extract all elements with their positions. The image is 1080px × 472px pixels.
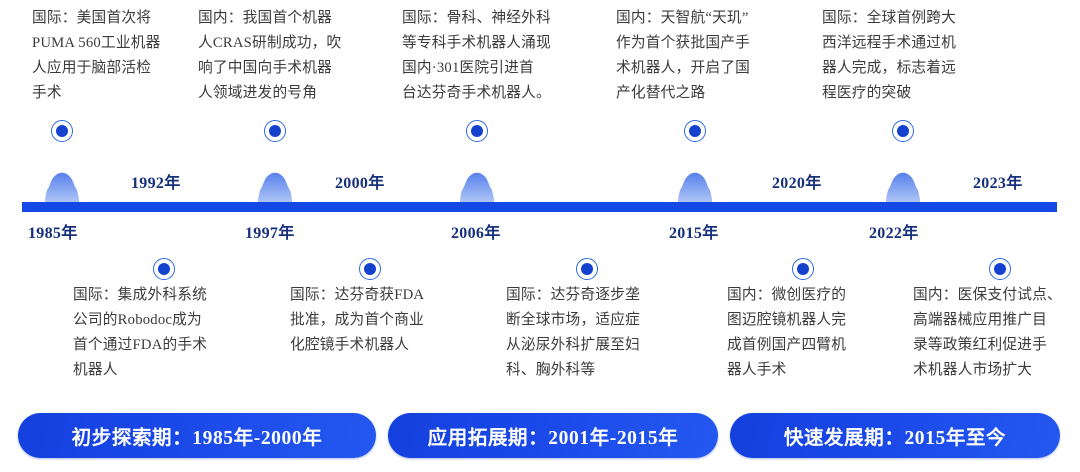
connector-spike-up-4 bbox=[665, 144, 725, 210]
timeline-node-bottom-3[interactable] bbox=[576, 258, 598, 280]
timeline-node-top-1[interactable] bbox=[51, 120, 73, 142]
year-label-below-2: 1997年 bbox=[245, 219, 295, 243]
phase-pill-1[interactable]: 初步探索期：1985年-2000年 bbox=[18, 413, 376, 458]
bottom-event-text-5: 国内：医保支付试点、 高端器械应用推广目 录等政策红利促进手 术机器人市场扩大 bbox=[913, 283, 1080, 383]
year-label-below-3: 2006年 bbox=[451, 219, 501, 243]
connector-spike-up-5 bbox=[873, 144, 933, 210]
phase-pill-3-label: 快速发展期：2015年至今 bbox=[784, 421, 1006, 450]
top-event-text-3: 国际：骨科、神经外科 等专科手术机器人涌现 国内·301医院引进首 台达芬奇手术… bbox=[402, 6, 592, 106]
bottom-event-text-1: 国际：集成外科系统 公司的Robodoc成为 首个通过FDA的手术 机器人 bbox=[73, 283, 251, 383]
connector-spike-up-2 bbox=[245, 144, 305, 210]
timeline-node-top-4[interactable] bbox=[684, 120, 706, 142]
top-event-text-2: 国内：我国首个机器 人CRAS研制成功，吹 响了中国向手术机器 人领域进发的号角 bbox=[198, 6, 366, 106]
top-event-text-5: 国际：全球首例跨大 西洋远程手术通过机 器人完成，标志着远 程医疗的突破 bbox=[822, 6, 998, 106]
timeline-node-bottom-1[interactable] bbox=[153, 258, 175, 280]
bottom-event-text-2: 国际：达芬奇获FDA 批准，成为首个商业 化腔镜手术机器人 bbox=[290, 283, 460, 358]
timeline-node-bottom-2[interactable] bbox=[359, 258, 381, 280]
year-label-above-3: 2020年 bbox=[772, 169, 822, 193]
timeline-node-bottom-5[interactable] bbox=[989, 258, 1011, 280]
timeline-node-top-5[interactable] bbox=[892, 120, 914, 142]
year-label-below-4: 2015年 bbox=[669, 219, 719, 243]
year-label-below-1: 1985年 bbox=[28, 219, 78, 243]
phase-pill-2-label: 应用拓展期：2001年-2015年 bbox=[428, 421, 679, 450]
connector-spike-up-1 bbox=[32, 144, 92, 210]
connector-spike-up-3 bbox=[447, 144, 507, 210]
year-label-above-1: 1992年 bbox=[131, 169, 181, 193]
phase-pill-3[interactable]: 快速发展期：2015年至今 bbox=[730, 413, 1060, 458]
bottom-event-text-3: 国际：达芬奇逐步垄 断全球市场，适应症 从泌尿外科扩展至妇 科、胸外科等 bbox=[506, 283, 678, 383]
phase-pill-1-label: 初步探索期：1985年-2000年 bbox=[72, 421, 323, 450]
timeline-infographic: 国际：美国首次将 PUMA 560工业机器 人应用于脑部活检 手术 国内：我国首… bbox=[0, 0, 1080, 472]
top-event-text-4: 国内：天智航“天玑” 作为首个获批国产手 术机器人，开启了国 产化替代之路 bbox=[616, 6, 788, 106]
timeline-node-top-3[interactable] bbox=[466, 120, 488, 142]
timeline-node-bottom-4[interactable] bbox=[792, 258, 814, 280]
top-event-text-1: 国际：美国首次将 PUMA 560工业机器 人应用于脑部活检 手术 bbox=[32, 6, 192, 106]
year-label-above-2: 2000年 bbox=[335, 169, 385, 193]
timeline-node-top-2[interactable] bbox=[264, 120, 286, 142]
year-label-below-5: 2022年 bbox=[869, 219, 919, 243]
bottom-event-text-4: 国内：微创医疗的 图迈腔镜机器人完 成首例国产四臂机 器人手术 bbox=[727, 283, 887, 383]
phase-pill-2[interactable]: 应用拓展期：2001年-2015年 bbox=[388, 413, 718, 458]
year-label-above-4: 2023年 bbox=[973, 169, 1023, 193]
